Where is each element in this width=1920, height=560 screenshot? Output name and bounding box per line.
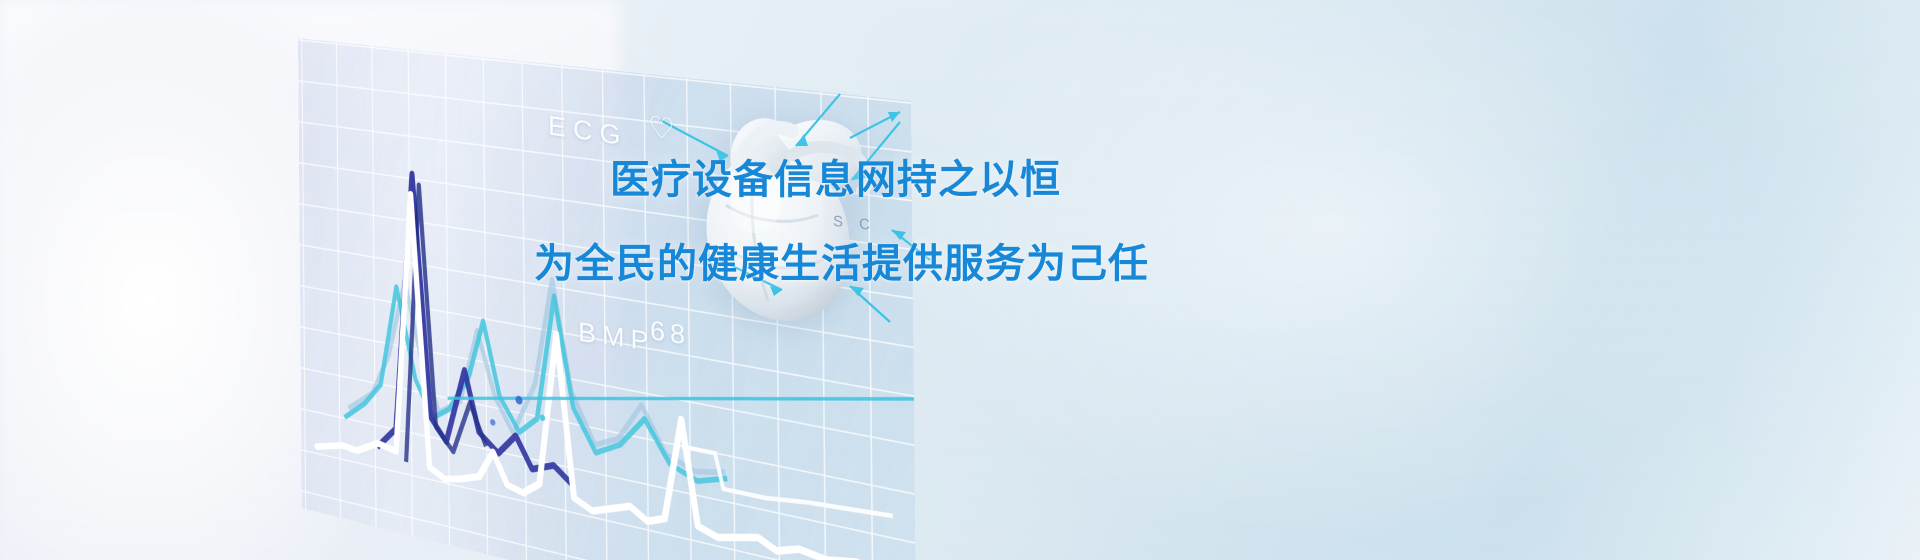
data-dot (515, 395, 522, 405)
ecg-trace-baseline (681, 446, 893, 525)
data-dot (490, 419, 495, 426)
banner-image: ECG ♡ BMP 68 S C 医疗设备信息网持之以恒 为全民的健康生活提供服… (0, 0, 1920, 560)
headline-block: 医疗设备信息网持之以恒 为全民的健康生活提供服务为己任 (534, 160, 1534, 284)
headline-line-1: 医疗设备信息网持之以恒 (610, 160, 1534, 200)
headline-line-2: 为全民的健康生活提供服务为己任 (534, 244, 1534, 284)
flow-arrow (660, 120, 728, 156)
